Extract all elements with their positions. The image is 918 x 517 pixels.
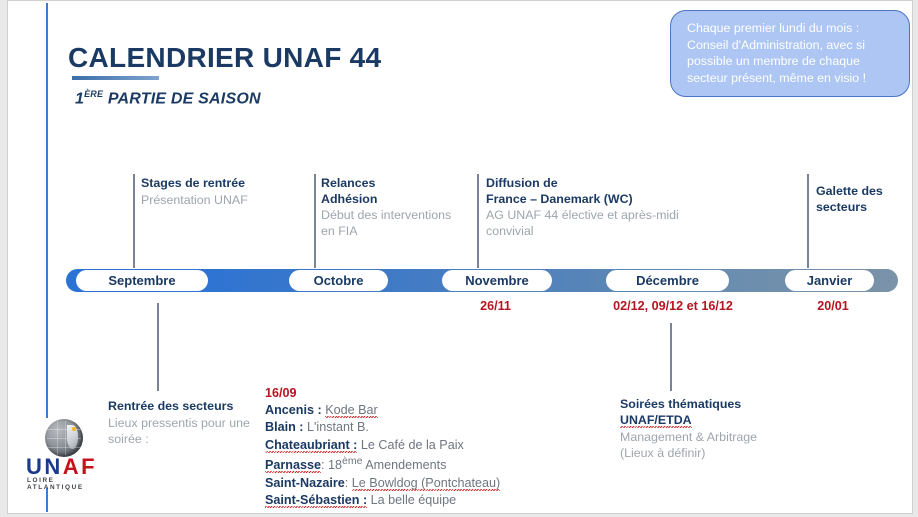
event-subtitle: AG UNAF 44 élective et après-midi conviv…	[486, 208, 716, 240]
event-galette-des-secteurs: Galette des secteurs	[816, 184, 913, 215]
event-title-line2: Adhésion	[321, 192, 466, 208]
venue-city: Ancenis :	[265, 403, 322, 417]
venue-list-date: 16/09	[265, 385, 575, 402]
event-title-line2: France – Danemark (WC)	[486, 192, 716, 208]
title-underline	[72, 76, 159, 80]
venue-row-chateaubriant: Chateaubriant : Le Café de la Paix	[265, 437, 575, 454]
logo-letter-a: A	[63, 454, 81, 479]
event-title-line1: Galette des	[816, 184, 913, 200]
subtitle-ordinal-suffix: ÈRE	[84, 89, 103, 99]
venue-row-blain: Blain : L'instant B.	[265, 419, 575, 436]
timeline-month-decembre[interactable]: Décembre	[606, 270, 729, 291]
page-title: CALENDRIER UNAF 44	[68, 43, 588, 72]
callout-box: Chaque premier lundi du mois : Conseil d…	[670, 10, 910, 97]
venue-place: Le Bowldog (Pontchateau)	[352, 476, 500, 490]
event-title: Stages de rentrée	[141, 176, 306, 192]
venue-city: Chateaubriant :	[265, 438, 357, 452]
connector-line-relances	[314, 174, 316, 268]
venue-place: Amendements	[362, 458, 446, 472]
left-accent-rule-bottom	[46, 488, 48, 512]
venue-place-ordinal: ème	[342, 455, 362, 467]
event-title-line1: Diffusion de	[486, 176, 716, 192]
venue-row-saint-sebastien: Saint-Sébastien : La belle équipe	[265, 492, 575, 509]
timeline-month-octobre[interactable]: Octobre	[289, 270, 388, 291]
slide-canvas: CALENDRIER UNAF 44 1ÈRE PARTIE DE SAISON…	[7, 0, 913, 514]
date-label-december: 02/12, 09/12 et 16/12	[578, 299, 768, 313]
event-title-line1: Relances	[321, 176, 466, 192]
venue-place-number: 18	[328, 458, 342, 472]
event-subtitle: Début des interventions en FIA	[321, 208, 466, 240]
timeline-month-novembre[interactable]: Novembre	[442, 270, 552, 291]
event-title-line2: secteurs	[816, 200, 913, 216]
page-subtitle: 1ÈRE PARTIE DE SAISON	[75, 89, 588, 108]
venue-place: L'instant B.	[307, 420, 369, 434]
date-label-26-11: 26/11	[448, 299, 543, 313]
event-title: Rentrée des secteurs	[108, 399, 260, 415]
connector-line-galette	[807, 174, 809, 268]
globe-icon	[45, 419, 83, 457]
venue-city: Saint-Nazaire	[265, 476, 345, 490]
venue-row-parnasse: Parnasse: 18ème Amendements	[265, 454, 575, 475]
event-title-line2-text: UNAF/ETDA	[620, 413, 692, 427]
event-soirees-thematiques: Soirées thématiques UNAF/ETDA Management…	[620, 397, 830, 461]
connector-line-soirees-thematiques	[670, 323, 672, 391]
connector-line-stages	[133, 174, 135, 268]
event-relances-adhesion: Relances Adhésion Début des intervention…	[321, 176, 466, 240]
subtitle-number: 1	[75, 91, 84, 108]
venue-city: Parnasse	[265, 458, 321, 472]
venue-place: Kode Bar	[325, 403, 378, 417]
event-title-line2: UNAF/ETDA	[620, 413, 830, 429]
venue-place: Le Café de la Paix	[361, 438, 464, 452]
logo-letter-u: U	[26, 454, 44, 479]
event-subtitle: Présentation UNAF	[141, 193, 306, 209]
venue-row-saint-nazaire: Saint-Nazaire: Le Bowldog (Pontchateau)	[265, 475, 575, 492]
title-block: CALENDRIER UNAF 44 1ÈRE PARTIE DE SAISON	[68, 43, 588, 109]
globe-dot	[72, 427, 76, 431]
venue-list: 16/09 Ancenis : Kode Bar Blain : L'insta…	[265, 385, 575, 509]
connector-line-diffusion	[477, 174, 479, 268]
event-subtitle-line2: (Lieux à définir)	[620, 445, 830, 461]
event-subtitle: Lieux pressentis pour une soirée :	[108, 415, 260, 447]
venue-city: Saint-Sébastien :	[265, 493, 367, 507]
logo-letter-f: F	[81, 454, 97, 479]
timeline-month-janvier[interactable]: Janvier	[785, 270, 874, 291]
venue-place: La belle équipe	[371, 493, 456, 507]
venue-city: Blain :	[265, 420, 303, 434]
unaf-logo: UNAF LOIRE ATLANTIQUE	[16, 419, 112, 481]
timeline-month-septembre[interactable]: Septembre	[76, 270, 208, 291]
event-rentree-des-secteurs: Rentrée des secteurs Lieux pressentis po…	[108, 399, 260, 447]
event-stages-de-rentree: Stages de rentrée Présentation UNAF	[141, 176, 306, 209]
event-title-line1: Soirées thématiques	[620, 397, 830, 413]
venue-row-ancenis: Ancenis : Kode Bar	[265, 402, 575, 419]
venue-separator: :	[321, 458, 328, 472]
logo-tagline: LOIRE ATLANTIQUE	[27, 477, 112, 491]
logo-wordmark: UNAF	[26, 456, 97, 478]
date-label-20-01: 20/01	[790, 299, 876, 313]
left-accent-rule-top	[46, 3, 48, 418]
connector-line-rentree-secteurs	[157, 303, 159, 391]
event-diffusion-france-danemark: Diffusion de France – Danemark (WC) AG U…	[486, 176, 716, 240]
event-subtitle-line1: Management & Arbitrage	[620, 429, 830, 445]
subtitle-rest: PARTIE DE SAISON	[103, 91, 261, 108]
venue-separator: :	[345, 476, 352, 490]
logo-letter-n: N	[44, 454, 62, 479]
